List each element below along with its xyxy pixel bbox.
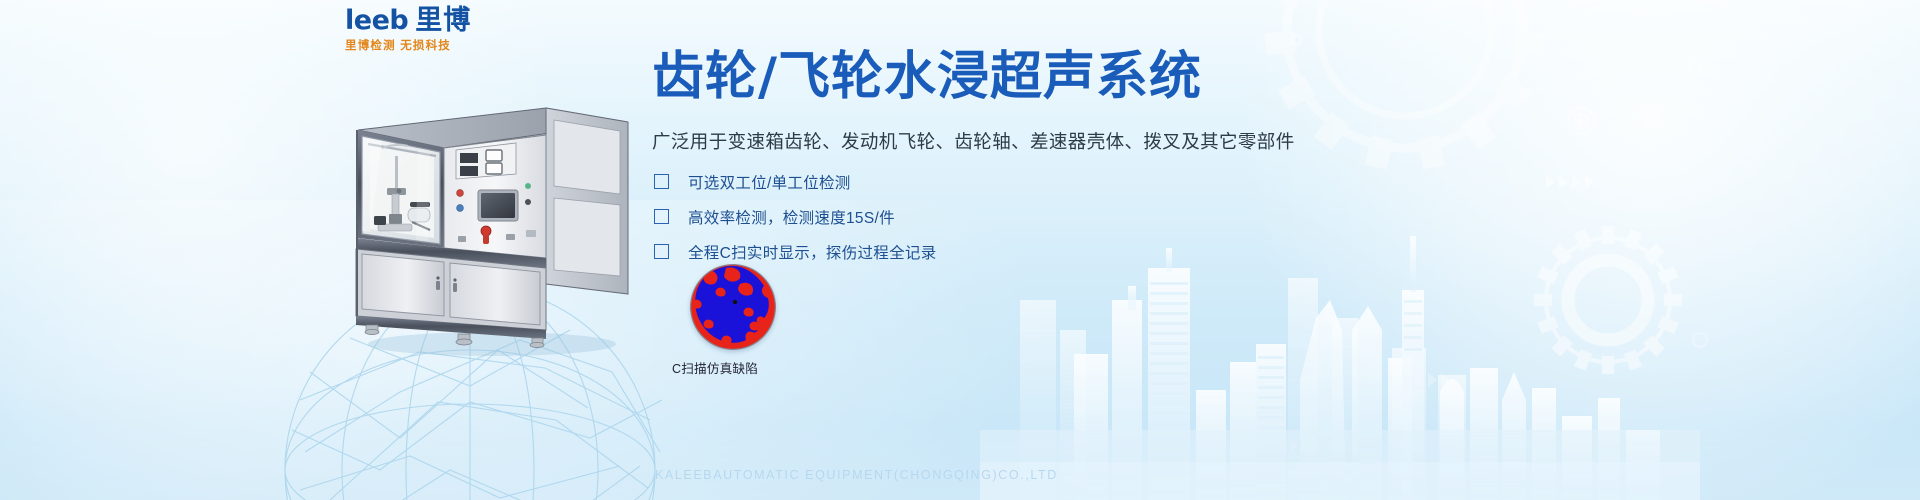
- cscan-disc-image: [690, 264, 776, 350]
- logo-tagline: 里博检测 无损科技: [345, 37, 575, 53]
- feature-text: 全程C扫实时显示，探伤过程全记录: [688, 241, 937, 263]
- chevron-arrows-icon: [1290, 175, 1594, 452]
- feature-text: 高效率检测，检测速度15S/件: [688, 206, 895, 228]
- feature-text: 可选双工位/单工位检测: [688, 171, 851, 193]
- cscan-caption: C扫描仿真缺陷: [672, 358, 832, 377]
- background-glow-right: [1200, 0, 1920, 500]
- hero-banner: leeb里博 里博检测 无损科技 齿轮/飞轮水浸超声系统 广泛用于变速箱齿轮、发…: [0, 0, 1920, 500]
- brand-logo[interactable]: leeb里博 里博检测 无损科技: [345, 6, 575, 53]
- page-subtitle: 广泛用于变速箱齿轮、发动机飞轮、齿轮轴、差速器壳体、拨叉及其它零部件: [652, 128, 1295, 154]
- skyline-silhouette: [980, 236, 1700, 500]
- feature-list: 可选双工位/单工位检测 高效率检测，检测速度15S/件 全程C扫实时显示，探伤过…: [654, 164, 937, 269]
- logo-latin-text: leeb: [345, 5, 408, 36]
- cscan-figure: C扫描仿真缺陷: [672, 264, 832, 377]
- logo-wordmark: leeb里博: [345, 6, 575, 36]
- list-item: 可选双工位/单工位检测: [654, 164, 937, 199]
- checkbox-square-icon: [654, 174, 669, 189]
- tech-circle-icon: [1291, 35, 1707, 347]
- company-watermark: KALEEBAUTOMATIC EQUIPMENT(CHONGQING)CO.,…: [655, 468, 1058, 482]
- gear-outline-small-icon: [1534, 226, 1682, 374]
- checkbox-square-icon: [654, 244, 669, 259]
- list-item: 高效率检测，检测速度15S/件: [654, 199, 937, 234]
- checkbox-square-icon: [654, 209, 669, 224]
- gear-outline-icon: [1265, 0, 1546, 169]
- ultrasonic-immersion-machine-image: [340, 98, 640, 358]
- logo-chinese-text: 里博: [415, 5, 471, 36]
- page-title: 齿轮/飞轮水浸超声系统: [652, 47, 1202, 107]
